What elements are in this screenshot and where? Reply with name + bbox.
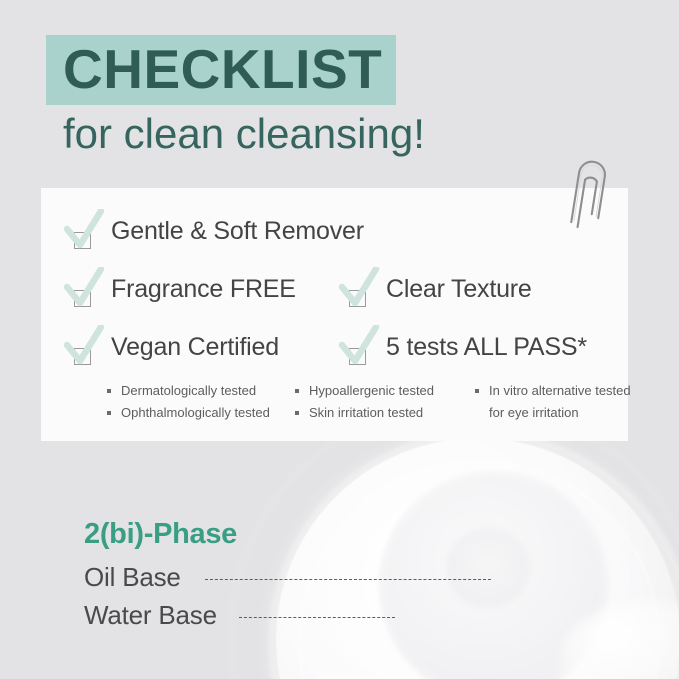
- fineprint-column-2: Hypoallergenic tested Skin irritation te…: [295, 380, 475, 424]
- cap-edge-highlight: [270, 432, 679, 679]
- checklist-item-five-tests-all-pass[interactable]: 5 tests ALL PASS*: [338, 325, 587, 369]
- page-title: CHECKLIST: [63, 34, 382, 104]
- fineprint-item: Skin irritation tested: [295, 402, 475, 424]
- fineprint-item: In vitro alternative tested: [475, 380, 650, 402]
- checklist-item-label: Fragrance FREE: [111, 275, 296, 304]
- phase-label: Water Base: [84, 600, 217, 631]
- fineprint-column-3: In vitro alternative tested for eye irri…: [475, 380, 650, 424]
- phase-section-title: 2(bi)-Phase: [84, 518, 237, 551]
- checkmark-icon: [338, 325, 380, 369]
- checklist-item-label: Gentle & Soft Remover: [111, 217, 364, 246]
- fineprint-item: Hypoallergenic tested: [295, 380, 475, 402]
- checkmark-icon: [63, 209, 105, 253]
- checklist-item-fragrance-free[interactable]: Fragrance FREE: [63, 267, 296, 311]
- checklist-item-label: 5 tests ALL PASS*: [386, 333, 587, 362]
- cap-outer-arc: [230, 400, 679, 679]
- checkbox-group[interactable]: [338, 267, 380, 311]
- checkbox-group[interactable]: [338, 325, 380, 369]
- cap-outer-disc: [276, 438, 679, 679]
- checkmark-icon: [63, 267, 105, 311]
- fineprint-item: Ophthalmologically tested: [107, 402, 297, 424]
- page-subtitle: for clean cleansing!: [63, 108, 425, 160]
- phase-row-water-base: Water Base: [84, 600, 395, 631]
- checklist-item-label: Vegan Certified: [111, 333, 279, 362]
- checklist-item-vegan-certified[interactable]: Vegan Certified: [63, 325, 279, 369]
- fineprint-column-1: Dermatologically tested Ophthalmological…: [107, 380, 297, 424]
- fineprint-item: Dermatologically tested: [107, 380, 297, 402]
- phase-dashed-line: [205, 579, 491, 580]
- phase-row-oil-base: Oil Base: [84, 562, 491, 593]
- cap-lower-right-highlight: [560, 600, 679, 679]
- checkmark-icon: [338, 267, 380, 311]
- checklist-card: Gentle & Soft Remover Fragrance FREE: [41, 188, 628, 441]
- phase-label: Oil Base: [84, 562, 181, 593]
- checkmark-icon: [63, 325, 105, 369]
- product-infographic-page: CHECKLIST for clean cleansing! Gentle & …: [0, 0, 679, 679]
- checkbox-group[interactable]: [63, 267, 105, 311]
- fineprint-item-continuation: for eye irritation: [475, 402, 650, 424]
- checklist-item-clear-texture[interactable]: Clear Texture: [338, 267, 532, 311]
- checkbox-group[interactable]: [63, 325, 105, 369]
- checkbox-group[interactable]: [63, 209, 105, 253]
- checklist-item-gentle-soft-remover[interactable]: Gentle & Soft Remover: [63, 209, 364, 253]
- paperclip-icon: [556, 150, 616, 236]
- checklist-item-label: Clear Texture: [386, 275, 532, 304]
- phase-dashed-line: [239, 617, 395, 618]
